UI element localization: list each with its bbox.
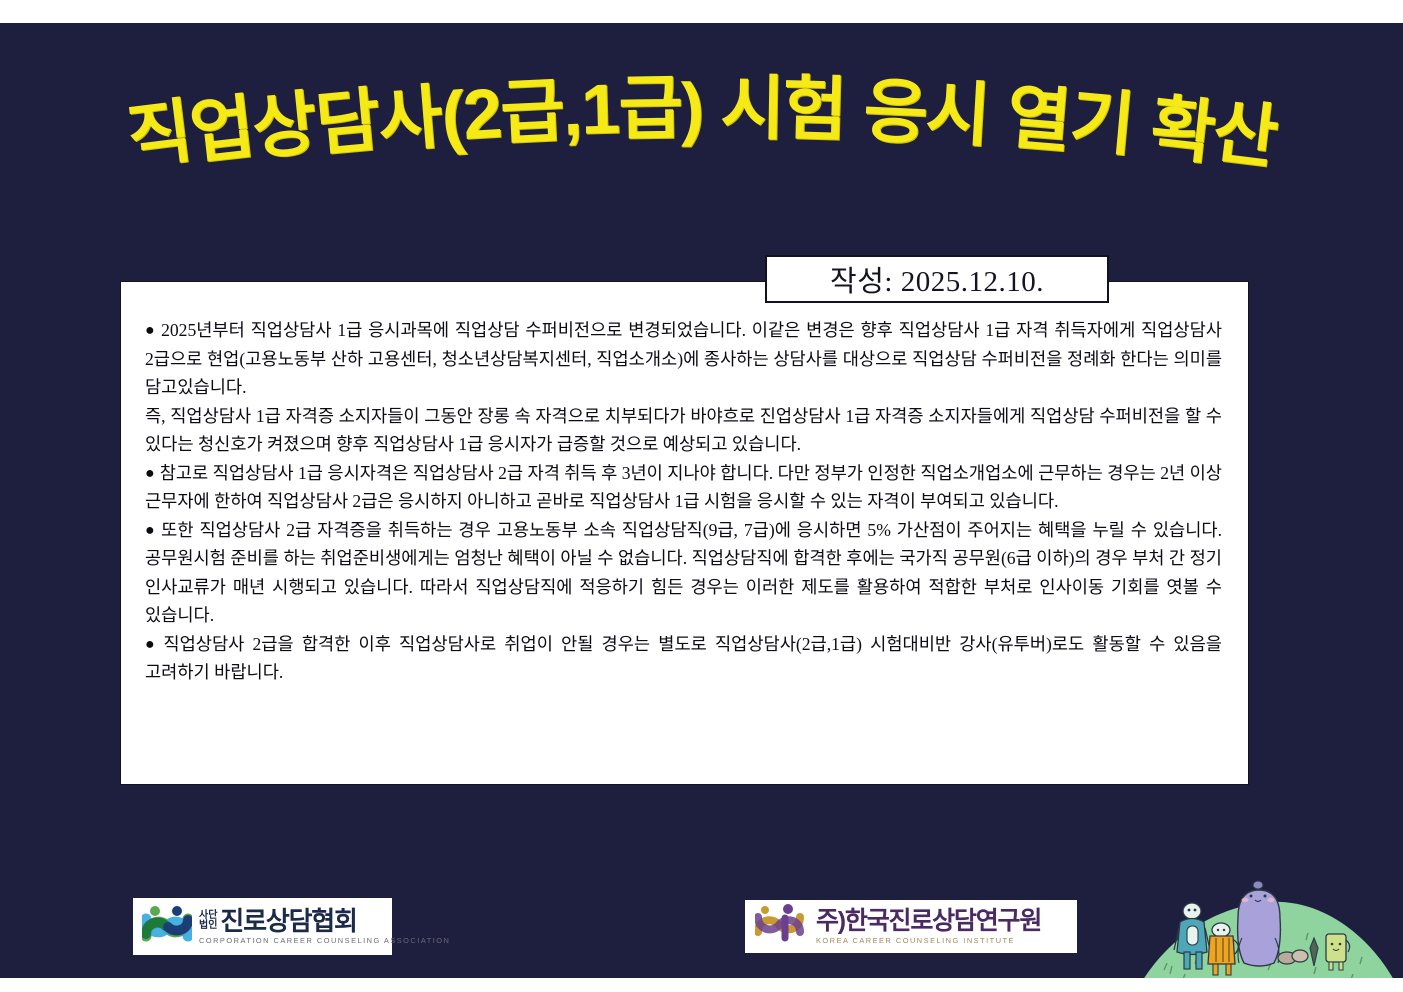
logo-subtitle: KOREA CAREER COUNSELING INSTITUTE [816,937,1041,944]
infinity-loop-icon [142,904,192,949]
logo-subtitle: CORPORATION CAREER COUNSELING ASSOCIATIO… [199,937,450,944]
logo-text-group: 주)한국진로상담연구원 KOREA CAREER COUNSELING INST… [816,909,1041,944]
logo-main-row: 주)한국진로상담연구원 [816,909,1041,934]
logo-name: 주)한국진로상담연구원 [816,909,1041,934]
bullet-icon: ● [145,465,155,482]
bullet-icon: ● [145,322,156,339]
paragraph-text: 또한 직업상담사 2급 자격증을 취득하는 경우 고용노동부 소속 직업상담직(… [145,520,1222,626]
logo-main-row: 사단 법인 진로상담협회 [199,908,450,934]
purple-blob [1238,881,1281,966]
ribbon-figures-icon [755,904,809,949]
logo-name: 진로상담협회 [220,908,356,934]
paragraph-text: 즉, 직업상담사 1급 자격증 소지자들이 그동안 장롱 속 자격으로 치부되다… [145,406,1222,455]
logo-text-group: 사단 법인 진로상담협회 CORPORATION CAREER COUNSELI… [199,908,450,944]
hill-characters-illustration [1128,878,1403,992]
content-paragraph: ●직업상담사 2급을 합격한 이후 직업상담사로 취업이 안될 경우는 별도로 … [145,630,1222,687]
date-box: 작성: 2025.12.10. [765,255,1109,303]
slide-canvas: 직업상담사(2급,1급) 시험 응시 열기 확산 작성: 2025.12.10.… [0,0,1403,992]
logo-prefix: 사단 법인 [199,911,217,932]
paragraph-text: 직업상담사 2급을 합격한 이후 직업상담사로 취업이 안될 경우는 별도로 직… [145,634,1222,683]
content-paragraph: ●2025년부터 직업상담사 1급 응시과목에 직업상담 수퍼비전으로 변경되었… [145,316,1222,402]
content-paragraph: ●또한 직업상담사 2급 자격증을 취득하는 경우 고용노동부 소속 직업상담직… [145,516,1222,630]
logo-career-counseling-association: 사단 법인 진로상담협회 CORPORATION CAREER COUNSELI… [133,898,392,955]
date-text: 작성: 2025.12.10. [830,258,1044,300]
content-panel: ●2025년부터 직업상담사 1급 응시과목에 직업상담 수퍼비전으로 변경되었… [120,281,1249,785]
paragraph-text: 2025년부터 직업상담사 1급 응시과목에 직업상담 수퍼비전으로 변경되었습… [145,320,1222,397]
bottom-white-strip [0,978,1403,992]
paragraph-list: ●2025년부터 직업상담사 1급 응시과목에 직업상담 수퍼비전으로 변경되었… [145,316,1222,687]
logo-prefix-line2: 법인 [199,921,217,932]
content-paragraph: ●참고로 직업상담사 1급 응시자격은 직업상담사 2급 자격 취득 후 3년이… [145,459,1222,516]
bullet-icon: ● [145,636,158,653]
content-paragraph: 즉, 직업상담사 1급 자격증 소지자들이 그동안 장롱 속 자격으로 치부되다… [145,402,1222,459]
logo-korea-career-counseling-institute: 주)한국진로상담연구원 KOREA CAREER COUNSELING INST… [745,900,1077,953]
bullet-icon: ● [145,522,156,539]
paragraph-text: 참고로 직업상담사 1급 응시자격은 직업상담사 2급 자격 취득 후 3년이 … [145,463,1222,512]
